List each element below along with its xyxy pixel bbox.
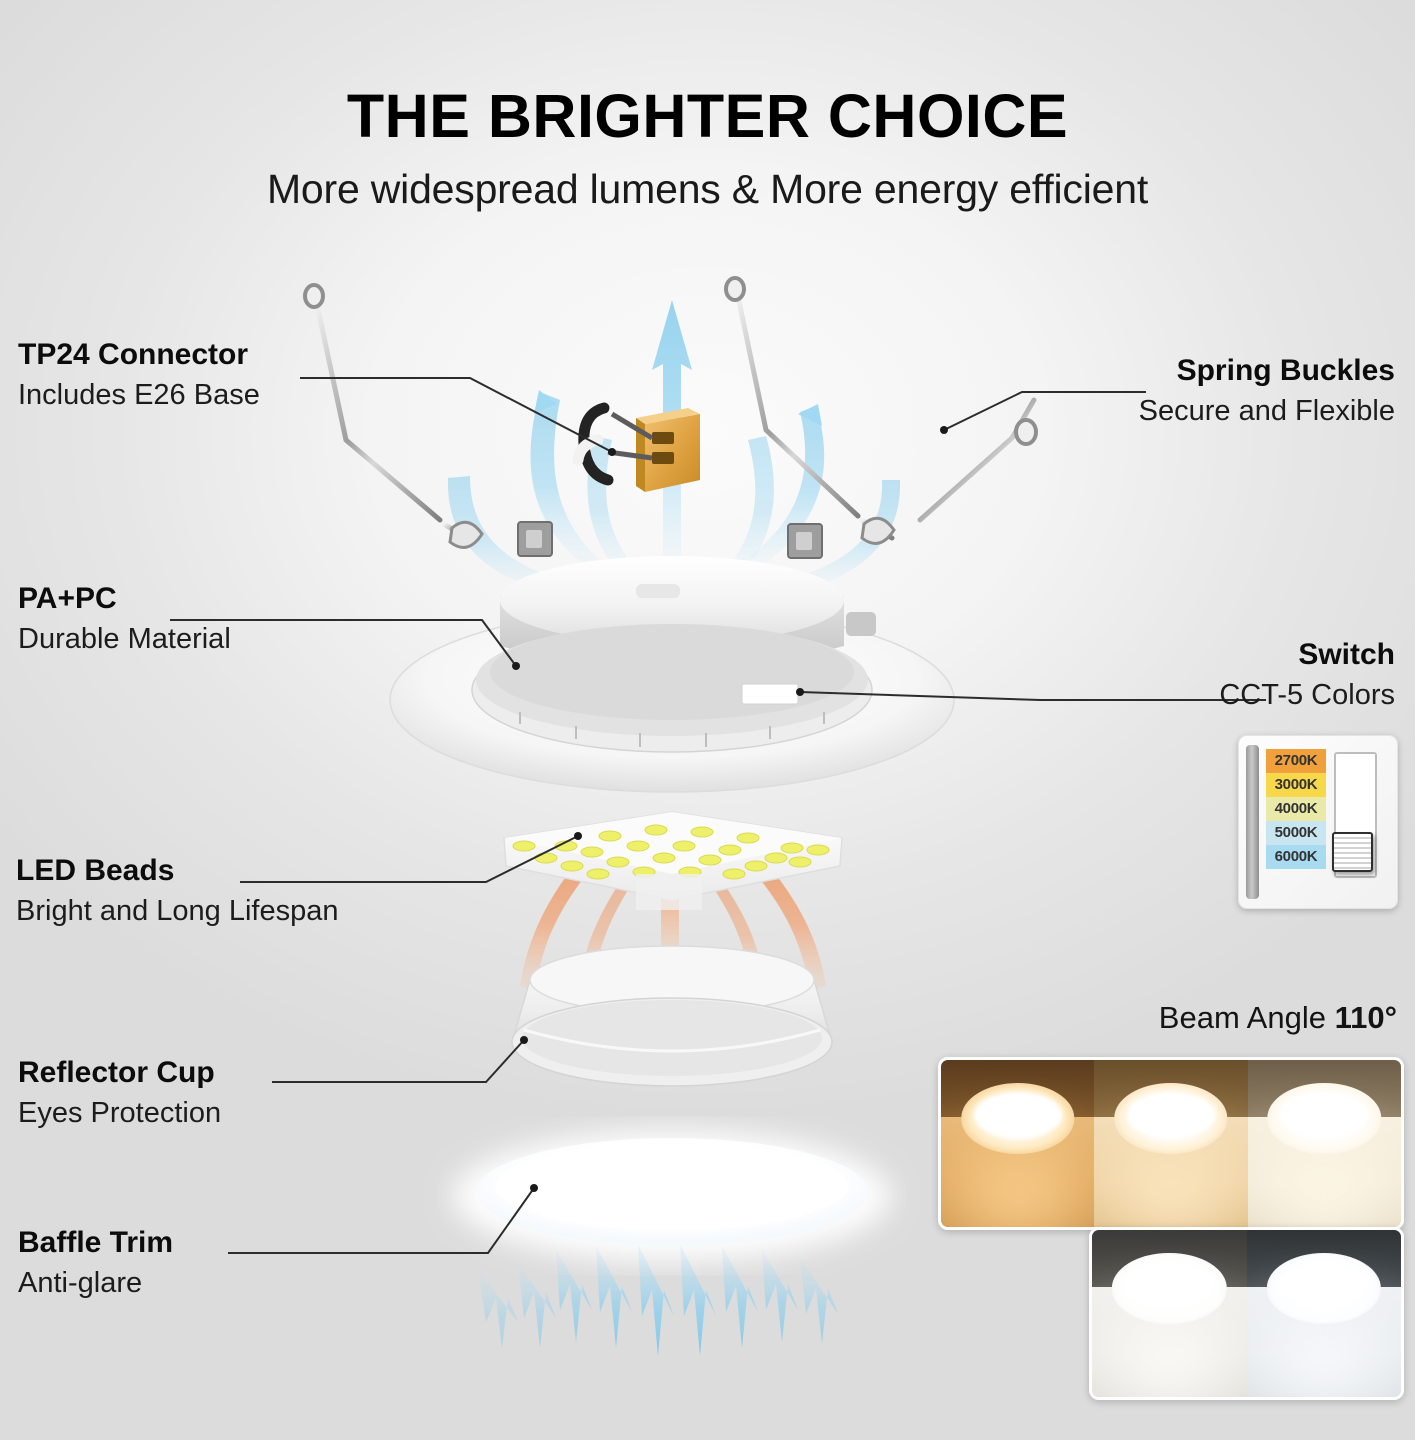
callout-switch: Switch CCT-5 Colors (1219, 638, 1395, 712)
downlight-lens (1280, 1092, 1369, 1139)
beam-angle: Beam Angle 110° (1159, 1000, 1397, 1036)
cct-option-4000k[interactable]: 4000K (1266, 797, 1326, 821)
cct-rail (1246, 745, 1259, 899)
switch-indicator (742, 684, 798, 704)
callout-title: Baffle Trim (18, 1226, 173, 1261)
callout-baffle-trim: Baffle Trim Anti-glare (18, 1226, 173, 1300)
callout-title: Spring Buckles (1139, 354, 1395, 389)
downlight-lens (1279, 1262, 1369, 1309)
callout-subtitle: Anti-glare (18, 1266, 173, 1301)
callout-subtitle: Secure and Flexible (1139, 394, 1395, 429)
infographic-root: THE BRIGHTER CHOICE More widespread lume… (0, 0, 1415, 1440)
callout-tp24-connector: TP24 Connector Includes E26 Base (18, 338, 260, 412)
downlight-lens (1127, 1092, 1216, 1139)
cct-option-list: 2700K 3000K 4000K 5000K 6000K (1266, 749, 1326, 869)
cct-option-5000k[interactable]: 5000K (1266, 821, 1326, 845)
callout-subtitle: Includes E26 Base (18, 378, 260, 413)
cct-option-2700k[interactable]: 2700K (1266, 749, 1326, 773)
cct-slider-knob[interactable] (1332, 832, 1373, 872)
housing-trim-ring (390, 556, 954, 792)
callout-title: PA+PC (18, 582, 231, 617)
downlight-lens (973, 1092, 1062, 1139)
callout-subtitle: Bright and Long Lifespan (16, 894, 338, 929)
photo-soft-white-3000k (1094, 1060, 1247, 1227)
lens-disc (452, 1130, 892, 1262)
callout-reflector-cup: Reflector Cup Eyes Protection (18, 1056, 221, 1130)
callout-led-beads: LED Beads Bright and Long Lifespan (16, 854, 338, 928)
light-color-photos-bottom-row (1089, 1227, 1404, 1400)
cct-switch-card[interactable]: 2700K 3000K 4000K 5000K 6000K (1238, 735, 1398, 909)
callout-subtitle: Durable Material (18, 622, 231, 657)
cct-option-6000k[interactable]: 6000K (1266, 845, 1326, 869)
callout-subtitle: CCT-5 Colors (1219, 678, 1395, 713)
photo-daylight-6000k (1247, 1230, 1402, 1397)
callout-pa-pc: PA+PC Durable Material (18, 582, 231, 656)
photo-neutral-white-4000k (1248, 1060, 1401, 1227)
cct-option-3000k[interactable]: 3000K (1266, 773, 1326, 797)
callout-title: Reflector Cup (18, 1056, 221, 1091)
photo-warm-white-2700k (941, 1060, 1094, 1227)
callout-title: LED Beads (16, 854, 338, 889)
callout-title: Switch (1219, 638, 1395, 673)
beam-angle-value: 110° (1335, 1000, 1397, 1035)
callout-subtitle: Eyes Protection (18, 1096, 221, 1131)
reflector-cup (512, 946, 832, 1086)
callout-title: TP24 Connector (18, 338, 260, 373)
callout-spring-buckles: Spring Buckles Secure and Flexible (1139, 354, 1395, 428)
light-color-photos-top-row (938, 1057, 1404, 1230)
downlight-lens (1124, 1262, 1214, 1309)
beam-angle-label: Beam Angle (1159, 1000, 1326, 1035)
photo-cool-white-5000k (1092, 1230, 1247, 1397)
spring-buckle-left (305, 285, 552, 556)
